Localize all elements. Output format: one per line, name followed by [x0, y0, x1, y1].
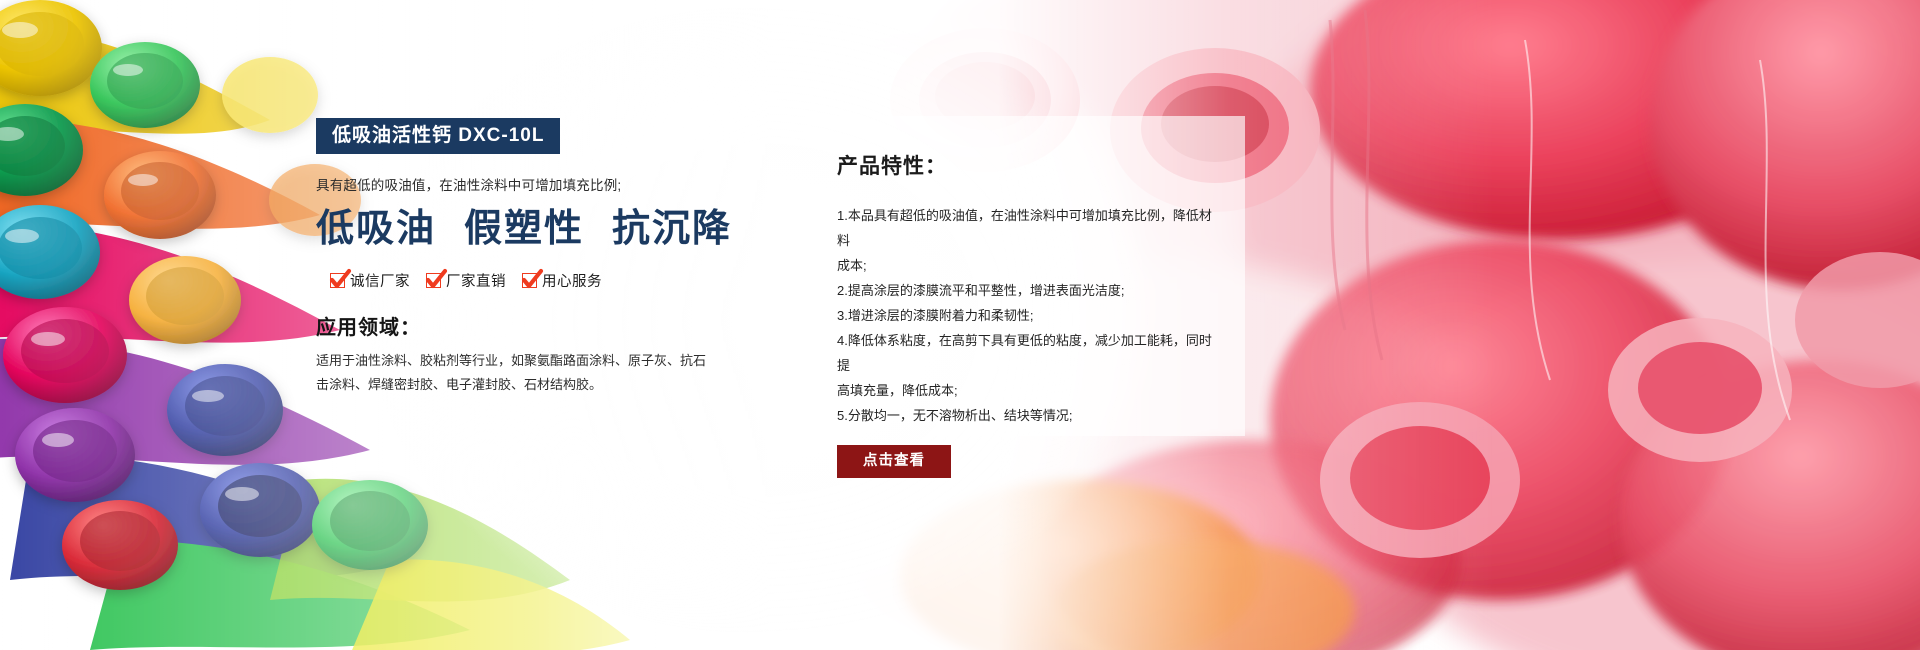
headline-keywords: 低吸油 假塑性 抗沉降	[316, 206, 736, 254]
headline-word-2: 假塑性	[464, 206, 584, 254]
application-section-heading: 应用领域：	[316, 311, 736, 340]
trust-badge-3-label: 用心服务	[542, 270, 602, 291]
product-banner: 低吸油活性钙 DXC-10L 具有超低的吸油值，在油性涂料中可增加填充比例; 低…	[0, 0, 1920, 650]
application-description: 适用于油性涂料、胶粘剂等行业，如聚氨酯路面涂料、原子灰、抗石击涂料、焊缝密封胶、…	[316, 349, 716, 397]
feature-line: 5.分散均一，无不溶物析出、结块等情况;	[837, 404, 1219, 429]
trust-badge-2-label: 厂家直销	[446, 270, 506, 291]
trust-badge-1-label: 诚信厂家	[350, 270, 410, 291]
view-details-button[interactable]: 点击查看	[837, 445, 951, 479]
trust-badge-1: 诚信厂家	[330, 270, 410, 291]
features-list: 1.本品具有超低的吸油值，在油性涂料中可增加填充比例，降低材料 成本; 2.提高…	[837, 204, 1219, 429]
feature-line: 3.增进涂层的漆膜附着力和柔韧性;	[837, 304, 1219, 329]
trust-badge-3: 用心服务	[522, 270, 602, 291]
checkmark-icon	[522, 273, 537, 288]
feature-line: 2.提高涂层的漆膜流平和平整性，增进表面光洁度;	[837, 279, 1219, 304]
left-copy-block: 低吸油活性钙 DXC-10L 具有超低的吸油值，在油性涂料中可增加填充比例; 低…	[316, 118, 736, 397]
product-title-tag: 低吸油活性钙 DXC-10L	[316, 118, 560, 154]
checkmark-icon	[426, 273, 441, 288]
features-panel-title: 产品特性：	[837, 150, 1219, 180]
product-subtitle: 具有超低的吸油值，在油性涂料中可增加填充比例;	[316, 176, 736, 196]
headline-word-3: 抗沉降	[612, 206, 732, 254]
feature-line: 高填充量，降低成本;	[837, 379, 1219, 404]
trust-badge-row: 诚信厂家 厂家直销 用心服务	[330, 270, 736, 291]
trust-badge-2: 厂家直销	[426, 270, 506, 291]
feature-line: 成本;	[837, 254, 1219, 279]
product-features-panel: 产品特性： 1.本品具有超低的吸油值，在油性涂料中可增加填充比例，降低材料 成本…	[805, 116, 1245, 436]
feature-line: 1.本品具有超低的吸油值，在油性涂料中可增加填充比例，降低材料	[837, 204, 1219, 254]
headline-word-1: 低吸油	[316, 206, 436, 254]
checkmark-icon	[330, 273, 345, 288]
feature-line: 4.降低体系粘度，在高剪下具有更低的粘度，减少加工能耗，同时提	[837, 329, 1219, 379]
